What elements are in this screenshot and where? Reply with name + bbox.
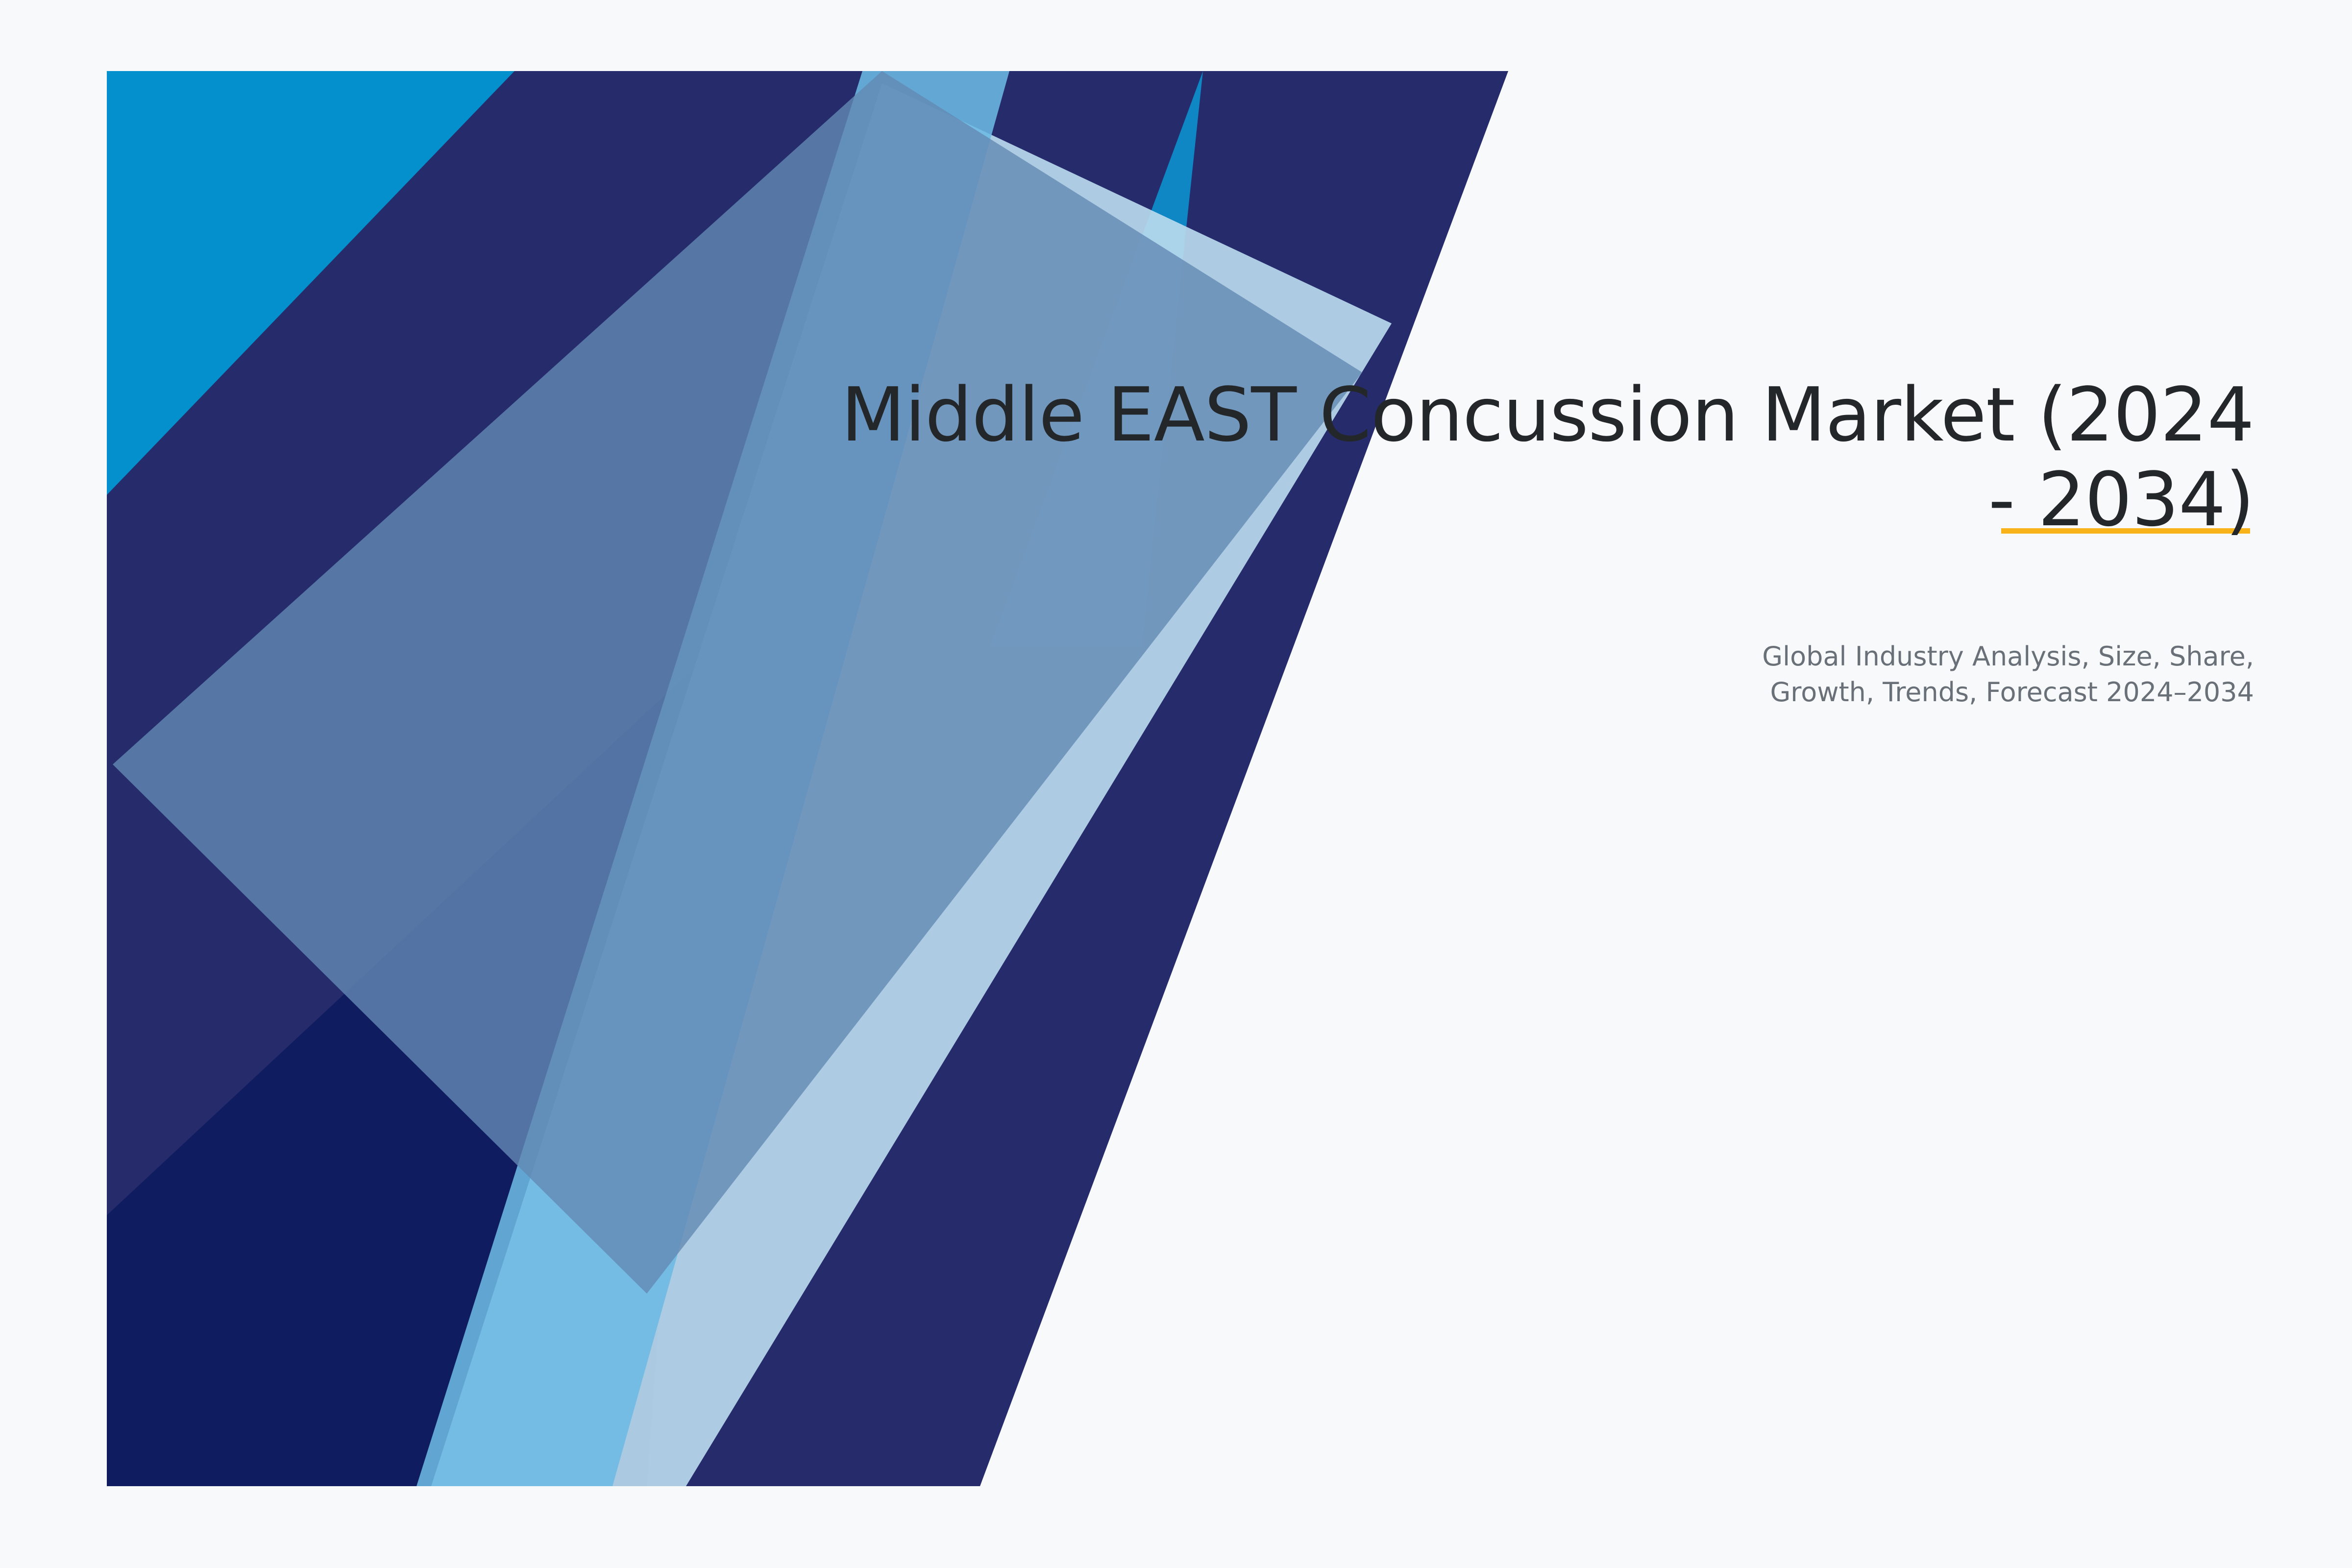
shape-cyan-field bbox=[107, 71, 1508, 1486]
cover-text-block: Middle EAST Concussion Market (2024 - 20… bbox=[784, 372, 2254, 710]
page-subtitle-line-1: Global Industry Analysis, Size, Share, bbox=[1762, 641, 2254, 672]
page-title-line-1: Middle EAST Concussion Market (2024 bbox=[841, 371, 2254, 458]
shape-navy-dark-spire bbox=[470, 666, 706, 1486]
shape-background-cut-right bbox=[980, 71, 1508, 1486]
shape-pale-blue-band bbox=[431, 83, 1392, 1486]
title-wrapper: Middle EAST Concussion Market (2024 - 20… bbox=[784, 372, 2254, 542]
shape-navy-dark-lower-wedge bbox=[107, 666, 696, 1486]
page-subtitle: Global Industry Analysis, Size, Share, G… bbox=[1637, 638, 2254, 710]
shape-navy-field bbox=[107, 71, 1508, 1486]
page-title-line-2: - 2034) bbox=[1988, 456, 2254, 543]
report-cover: Middle EAST Concussion Market (2024 - 20… bbox=[0, 0, 2352, 1568]
geometric-cover-graphic bbox=[0, 0, 1568, 1568]
page-title: Middle EAST Concussion Market (2024 - 20… bbox=[784, 372, 2254, 542]
shape-light-blue-band bbox=[416, 71, 1009, 1486]
cover-artwork bbox=[0, 0, 1568, 1568]
page-subtitle-line-2: Growth, Trends, Forecast 2024–2034 bbox=[1770, 677, 2254, 708]
